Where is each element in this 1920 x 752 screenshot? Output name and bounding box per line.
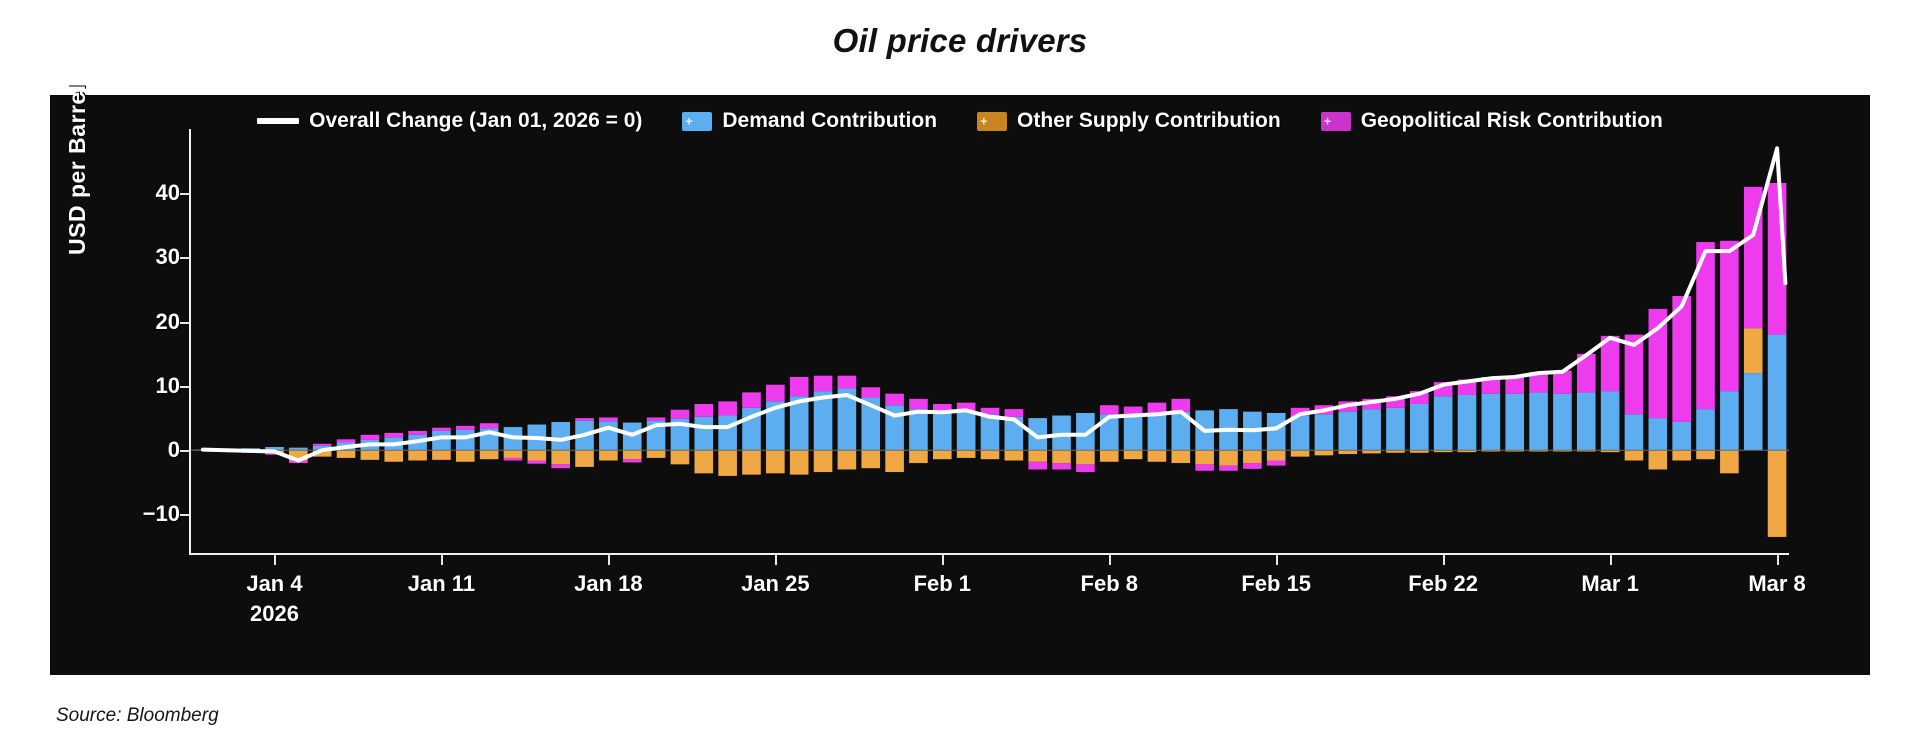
bar-segment-geopolitical	[647, 417, 666, 420]
bar-segment-geopolitical	[742, 392, 761, 407]
x-tick-label: Jan 11	[408, 571, 475, 597]
source-note: Source: Bloomberg	[56, 705, 219, 727]
x-tick-mark	[942, 555, 944, 565]
bar-segment-other-supply	[1649, 450, 1668, 469]
bar-segment-demand	[1338, 412, 1357, 451]
bar-segment-geopolitical	[885, 394, 904, 406]
bar-segment-other-supply	[551, 450, 570, 464]
plot-area: USD per Barrel −10010203040 Jan 42026Jan…	[50, 95, 1870, 675]
x-tick-mark	[775, 555, 777, 565]
bar-segment-geopolitical	[408, 431, 427, 435]
bar-segment-other-supply	[838, 450, 857, 469]
bar-segment-demand	[599, 421, 618, 450]
bar-segment-other-supply	[1076, 450, 1095, 464]
bar-segment-geopolitical	[1028, 462, 1047, 470]
bar-segment-other-supply	[647, 450, 666, 458]
bar-segment-geopolitical	[361, 435, 380, 440]
page-title: Oil price drivers	[0, 22, 1920, 60]
bar-segment-demand	[694, 417, 713, 450]
bar-segment-geopolitical	[1243, 463, 1262, 469]
bar-segment-demand	[1124, 417, 1143, 450]
x-axis-line	[189, 553, 1789, 555]
bar-segment-geopolitical	[384, 433, 403, 437]
y-tick-mark	[180, 450, 189, 452]
bar-segment-other-supply	[694, 450, 713, 473]
x-tick-label: Jan 4	[246, 571, 302, 597]
x-tick-mark	[274, 555, 276, 565]
bar-segment-other-supply	[1672, 450, 1691, 460]
bar-segment-demand	[456, 430, 475, 451]
bar-segment-demand	[1410, 404, 1429, 450]
bar-segment-demand	[1458, 395, 1477, 450]
bar-segment-demand	[1291, 416, 1310, 451]
bar-segment-demand	[1601, 391, 1620, 450]
bar-segment-geopolitical	[1076, 464, 1095, 472]
bar-segment-other-supply	[1291, 450, 1310, 456]
x-tick-sublabel: 2026	[250, 601, 299, 627]
bar-segment-geopolitical	[1720, 241, 1739, 391]
bar-segment-other-supply	[790, 450, 809, 474]
bar-segment-geopolitical	[313, 444, 332, 446]
bar-segment-demand	[1386, 408, 1405, 450]
bar-segment-demand	[1649, 418, 1668, 450]
bar-segment-other-supply	[384, 450, 403, 462]
bar-segment-other-supply	[718, 450, 737, 476]
bar-segment-demand	[1148, 414, 1167, 450]
bar-segment-other-supply	[1195, 450, 1214, 464]
bar-segment-geopolitical	[909, 399, 928, 409]
bar-segment-geopolitical	[1219, 466, 1238, 471]
x-tick-label: Feb 22	[1408, 571, 1478, 597]
x-tick-label: Feb 1	[914, 571, 971, 597]
bar-segment-geopolitical	[1267, 460, 1286, 465]
bar-segment-geopolitical	[504, 458, 523, 461]
bar-segment-other-supply	[408, 450, 427, 460]
bar-segment-demand	[1315, 414, 1334, 450]
bar-segment-geopolitical	[1005, 409, 1024, 417]
bar-segment-demand	[1577, 392, 1596, 450]
bar-segment-geopolitical	[694, 404, 713, 417]
y-tick-mark	[180, 322, 189, 324]
bar-segment-other-supply	[528, 450, 547, 460]
bar-segment-other-supply	[361, 450, 380, 460]
bar-segment-geopolitical	[480, 423, 499, 428]
bar-segment-demand	[1267, 413, 1286, 450]
bar-segment-demand	[1553, 394, 1572, 451]
bar-segment-other-supply	[504, 450, 523, 458]
bar-segment-geopolitical	[718, 401, 737, 415]
bar-segment-other-supply	[575, 450, 594, 467]
bar-segment-other-supply	[456, 450, 475, 462]
bar-segment-other-supply	[337, 450, 356, 458]
x-tick-mark	[1610, 555, 1612, 565]
bar-segment-geopolitical	[1649, 309, 1668, 418]
x-tick-mark	[608, 555, 610, 565]
x-tick-label: Feb 8	[1081, 571, 1138, 597]
x-tick-mark	[441, 555, 443, 565]
bar-segment-geopolitical	[337, 439, 356, 442]
bar-segment-demand	[1529, 392, 1548, 450]
x-tick-mark	[1109, 555, 1111, 565]
bar-segment-demand	[1434, 396, 1453, 450]
bar-segment-geopolitical	[814, 376, 833, 391]
bar-segment-geopolitical	[1195, 464, 1214, 470]
bar-segment-geopolitical	[790, 377, 809, 396]
bar-segment-other-supply	[671, 450, 690, 464]
bar-segment-geopolitical	[838, 376, 857, 389]
bar-segment-geopolitical	[432, 428, 451, 431]
bar-segment-other-supply	[933, 450, 952, 459]
bar-segment-demand	[981, 414, 1000, 450]
bar-segment-other-supply	[1219, 450, 1238, 465]
bar-segment-other-supply	[1625, 450, 1644, 460]
bar-segment-geopolitical	[861, 387, 880, 397]
bar-segment-demand	[1672, 422, 1691, 450]
bar-segment-other-supply	[814, 450, 833, 472]
bar-segment-demand	[1505, 394, 1524, 451]
bar-segment-other-supply	[1744, 328, 1763, 373]
bar-segment-other-supply	[1267, 450, 1286, 460]
bar-segment-other-supply	[766, 450, 785, 473]
bar-segment-other-supply	[1315, 450, 1334, 455]
x-tick-mark	[1777, 555, 1779, 565]
chart-page: Oil price drivers Overall Change (Jan 01…	[0, 0, 1920, 752]
bar-segment-other-supply	[1028, 450, 1047, 462]
bar-segment-demand	[1744, 373, 1763, 450]
bar-segment-geopolitical	[623, 459, 642, 462]
bar-segment-demand	[1720, 391, 1739, 450]
figure-panel: Overall Change (Jan 01, 2026 = 0)+Demand…	[50, 95, 1870, 675]
bar-segment-geopolitical	[1100, 405, 1119, 414]
x-tick-mark	[1276, 555, 1278, 565]
bar-segment-other-supply	[957, 450, 976, 458]
bar-segment-geopolitical	[599, 417, 618, 421]
bar-segment-demand	[1768, 335, 1787, 451]
bar-segment-other-supply	[909, 450, 928, 463]
bar-segment-geopolitical	[551, 464, 570, 468]
bar-segment-geopolitical	[528, 460, 547, 463]
bar-segment-other-supply	[1696, 450, 1715, 459]
y-tick-mark	[180, 257, 189, 259]
x-tick-label: Jan 25	[741, 571, 810, 597]
bar-segment-demand	[432, 431, 451, 450]
bar-segment-geopolitical	[1052, 463, 1071, 469]
x-tick-label: Jan 18	[574, 571, 643, 597]
bar-segment-other-supply	[1100, 450, 1119, 462]
x-tick-mark	[1443, 555, 1445, 565]
bar-segment-other-supply	[1338, 450, 1357, 454]
bar-segment-demand	[909, 409, 928, 450]
bar-segment-demand	[957, 410, 976, 450]
bar-segment-other-supply	[981, 450, 1000, 459]
bar-segment-other-supply	[885, 450, 904, 472]
y-tick-mark	[180, 193, 189, 195]
y-tick-mark	[180, 386, 189, 388]
y-tick-mark	[180, 514, 189, 516]
bar-segment-other-supply	[623, 450, 642, 459]
bar-segment-other-supply	[861, 450, 880, 468]
bar-segment-demand	[1625, 414, 1644, 450]
bar-segment-geopolitical	[766, 385, 785, 402]
bar-segment-demand	[1482, 394, 1501, 451]
bar-segment-other-supply	[1005, 450, 1024, 460]
bar-segment-other-supply	[1148, 450, 1167, 462]
bar-segment-demand	[933, 413, 952, 450]
bar-segment-other-supply	[599, 450, 618, 460]
bar-segment-other-supply	[1172, 450, 1191, 463]
bar-segment-demand	[551, 422, 570, 450]
bar-segment-other-supply	[480, 450, 499, 459]
bar-segment-geopolitical	[671, 410, 690, 419]
x-tick-label: Mar 1	[1581, 571, 1638, 597]
bar-segment-other-supply	[1052, 450, 1071, 463]
bar-segment-other-supply	[1768, 450, 1787, 537]
bar-segment-geopolitical	[456, 426, 475, 430]
bar-segment-demand	[1362, 409, 1381, 450]
bar-segment-demand	[718, 416, 737, 451]
bar-segment-other-supply	[1720, 450, 1739, 473]
x-tick-label: Mar 8	[1748, 571, 1805, 597]
x-tick-label: Feb 15	[1241, 571, 1311, 597]
bar-segment-other-supply	[742, 450, 761, 474]
bar-segment-other-supply	[432, 450, 451, 460]
bar-segment-geopolitical	[575, 418, 594, 421]
bar-segment-demand	[1696, 409, 1715, 450]
bar-segment-other-supply	[1243, 450, 1262, 463]
bar-segment-other-supply	[1124, 450, 1143, 459]
